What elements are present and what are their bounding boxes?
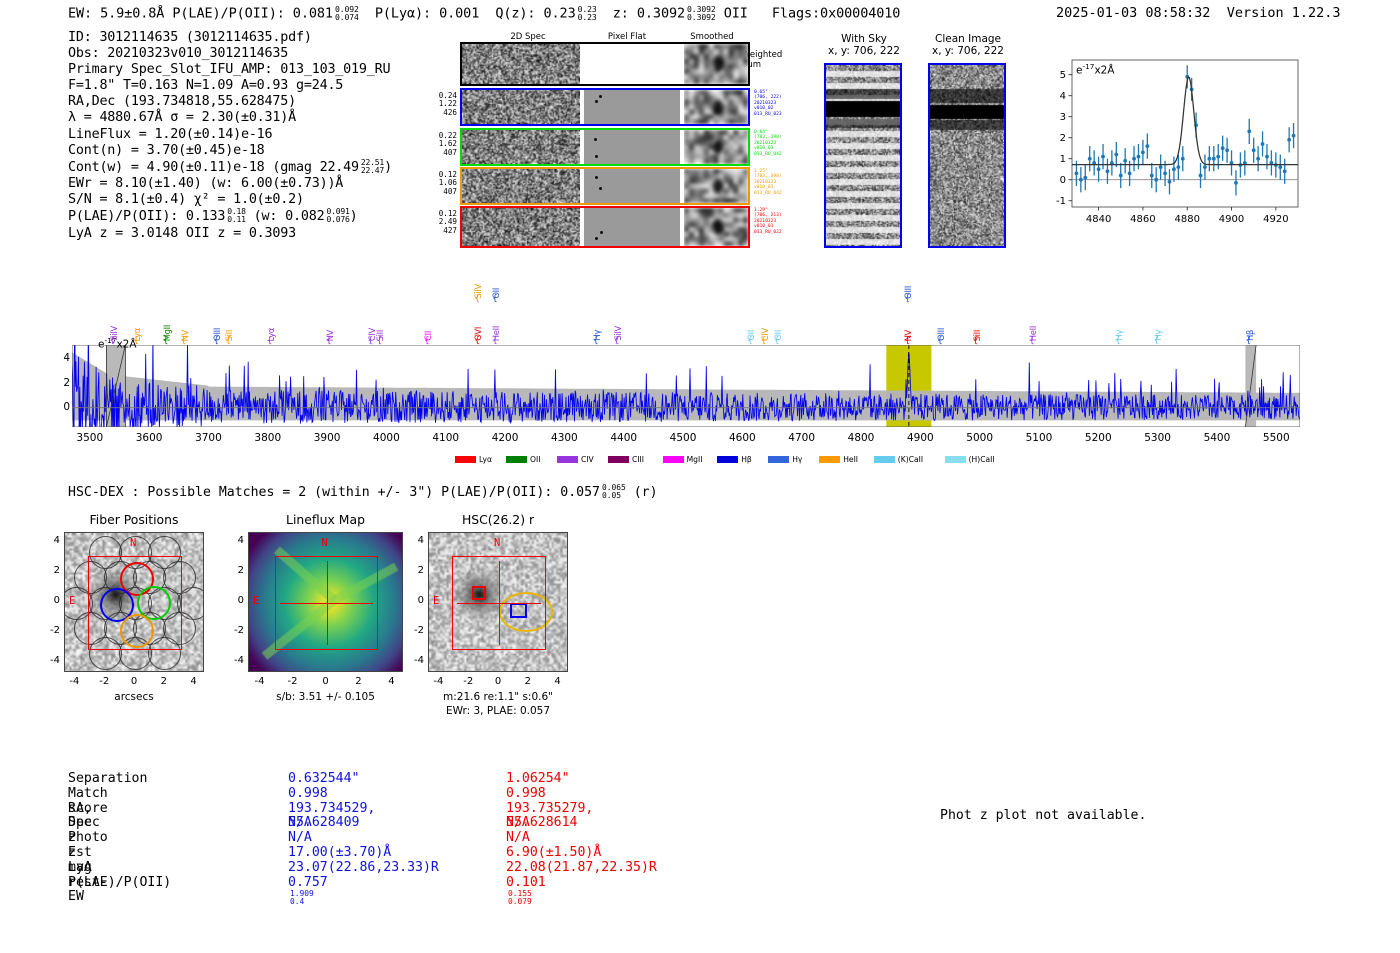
spec2d-cell-smoothed — [684, 169, 748, 203]
spectrum-line-bracket: { — [492, 294, 498, 304]
compass-east: E — [69, 595, 75, 607]
match-col1-value: 23.07(22.86,23.33)R — [288, 861, 439, 876]
full-spectrum-plot — [72, 345, 1300, 427]
legend-label: CIII — [632, 455, 644, 464]
svg-text:5: 5 — [1060, 70, 1066, 81]
match-col2-value: N/A — [506, 816, 530, 831]
header-ew: EW: 5.9±0.8Å — [68, 5, 164, 21]
param-ewr: EWr = 8.10(±1.40) (w: 6.00(±0.73))Å — [68, 176, 392, 192]
spectrum-xtick: 4800 — [848, 432, 875, 444]
spec2d-stat: 407 — [432, 188, 457, 196]
match-col2-value: 0.998 — [506, 787, 546, 802]
panel-ytick: 4 — [226, 535, 244, 546]
spec2d-montage: 2D Spec Pixel Flat Smoothed Weighted Sum… — [432, 32, 772, 252]
panel-ytick: -4 — [406, 655, 424, 666]
param-plae-w-lo: 0.076 — [326, 215, 349, 224]
spectrum-xtick: 3500 — [76, 432, 103, 444]
spectrum-xtick: 4300 — [551, 432, 578, 444]
match-row-label: Separation — [68, 772, 147, 787]
compass-east: E — [253, 595, 259, 607]
panel-ytick: 0 — [42, 595, 60, 606]
legend-swatch — [945, 456, 966, 463]
hsc-plae-lo: 0.05 — [602, 491, 621, 500]
panel-xtick: 4 — [388, 676, 394, 687]
spec2d-meta-line: 013_RU_022 — [754, 230, 782, 235]
compass-east: E — [433, 595, 439, 607]
param-primary-slot: Primary Spec_Slot_IFU_AMP: 013_103_019_R… — [68, 62, 392, 78]
panel-xtick: 2 — [355, 676, 361, 687]
cutout-coords: x, y: 706, 222 — [904, 45, 1032, 57]
spectrum-line-bracket: { — [424, 336, 430, 346]
cutout-image-clean — [928, 63, 1006, 248]
spec2d-meta-line: 013_RU_042 — [754, 191, 782, 196]
header-flags: Flags:0x00004010 — [772, 5, 900, 21]
spectrum-xtick: 5200 — [1085, 432, 1112, 444]
spec2d-row-meta: 0.65"(706, 222)20210323v010_02013_RU_023 — [754, 90, 782, 117]
col-header-smoothed: Smoothed — [672, 32, 752, 42]
panel-xtick: -2 — [463, 676, 473, 687]
match-col1-value: 17.00(±3.70)Å — [288, 846, 391, 861]
spectrum-line-bracket: { — [326, 336, 332, 346]
param-sn-chi2: S/N = 8.1(±0.4) χ² = 1.0(±0.2) — [68, 192, 392, 208]
legend-swatch — [819, 456, 840, 463]
spectrum-line-bracket: { — [474, 294, 480, 304]
spectrum-xtick: 4600 — [729, 432, 756, 444]
legend-swatch — [608, 456, 629, 463]
panel-caption: m:21.6 re:1.1" s:0.6" — [388, 691, 608, 703]
spectrum-xtick: 3800 — [254, 432, 281, 444]
spec2d-row — [460, 167, 750, 205]
legend-swatch — [663, 456, 684, 463]
spec2d-row — [460, 88, 750, 126]
spec2d-row-stats: 0.221.62407 — [432, 132, 457, 157]
col-header-2dspec: 2D Spec — [478, 32, 578, 42]
spectrum-line-bracket: { — [747, 336, 753, 346]
spectrum-line-bracket: { — [1029, 336, 1035, 346]
panel-xtick: 4 — [190, 676, 196, 687]
spec2d-row-meta: 1.29"(706, 213)20210323v010_01013_RU_022 — [754, 208, 782, 235]
spec2d-cell-raw — [462, 169, 580, 203]
panel-xtick: 2 — [525, 676, 531, 687]
svg-text:4: 4 — [1060, 91, 1066, 102]
timestamp-version: 2025-01-03 08:58:32 Version 1.22.3 — [1056, 5, 1341, 21]
spectrum-xtick: 5000 — [966, 432, 993, 444]
param-redshifts: LyA z = 3.0148 OII z = 0.3093 — [68, 226, 392, 242]
match-col1-value: 0.632544" — [288, 772, 359, 787]
legend-swatch — [717, 456, 738, 463]
legend-swatch — [506, 456, 527, 463]
legend-label: (K)CaII — [898, 455, 923, 464]
panel-image-hsc: NE — [428, 532, 568, 672]
spec2d-row-stats: 0.122.49427 — [432, 210, 457, 235]
header-plae-value: 0.081 — [293, 5, 333, 21]
param-plae-post: ) — [350, 209, 358, 224]
svg-text:4860: 4860 — [1130, 214, 1155, 225]
hsc-prefix: HSC-DEX : Possible Matches = 2 (within +… — [68, 485, 552, 500]
legend-label: MgII — [687, 455, 703, 464]
compass-north: N — [322, 537, 328, 549]
spectrum-xtick: 4400 — [610, 432, 637, 444]
header-plae-lo: 0.074 — [335, 12, 359, 22]
hsc-dex-summary: HSC-DEX : Possible Matches = 2 (within +… — [68, 484, 658, 500]
lineplot-units-label: e-17x2Å — [1076, 62, 1115, 77]
panel-image-fiber: NE — [64, 532, 204, 672]
spectrum-xtick: 5100 — [1026, 432, 1053, 444]
panel-ytick: 2 — [42, 565, 60, 576]
spectrum-xtick: 3900 — [314, 432, 341, 444]
spectrum-line-bracket: { — [225, 336, 231, 346]
spec2d-row-stats: 0.241.22426 — [432, 92, 457, 117]
match-col1-value: N/A — [288, 816, 312, 831]
panel-ytick: 0 — [406, 595, 424, 606]
header-z-value: 0.3092 — [637, 5, 685, 21]
spec2d-row-meta: 1.25"(703, 398)20210323v010_01013_RU_042 — [754, 169, 782, 196]
svg-text:4920: 4920 — [1263, 214, 1288, 225]
param-wavelength: λ = 4880.67Å σ = 2.30(±0.31)Å — [68, 110, 392, 126]
spec2d-cell-raw — [462, 130, 580, 164]
timestamp: 2025-01-03 08:58:32 — [1056, 5, 1210, 21]
spec2d-meta-line: 013_RU_042 — [754, 152, 782, 157]
spectrum-line-bracket: { — [181, 336, 187, 346]
spec2d-row — [460, 128, 750, 166]
spectrum-xtick: 4200 — [492, 432, 519, 444]
aperture-box — [88, 556, 182, 650]
panel-xtick: -2 — [99, 676, 109, 687]
panel-ytick: -4 — [226, 655, 244, 666]
spectrum-line-bracket: { — [614, 336, 620, 346]
spectrum-xtick: 4000 — [373, 432, 400, 444]
legend-label: Hγ — [792, 455, 802, 464]
spec2d-cell-pixelflat — [584, 44, 680, 84]
svg-text:3: 3 — [1060, 112, 1066, 123]
spec2d-cell-pixelflat — [584, 208, 680, 246]
svg-text:-1: -1 — [1056, 196, 1066, 207]
compass-north: N — [494, 537, 500, 549]
spectrum-line-bracket: { — [492, 336, 498, 346]
spectrum-line-bracket: { — [1246, 336, 1252, 346]
spectrum-line-bracket: { — [267, 336, 273, 346]
spec2d-row-meta: 0.84"(703, 398)20210323v010_03013_RU_042 — [754, 130, 782, 157]
spectrum-line-bracket: { — [593, 336, 599, 346]
panel-ytick: 0 — [226, 595, 244, 606]
header-plya: P(Lyα): 0.001 — [375, 5, 479, 21]
legend-swatch — [768, 456, 789, 463]
legend-label: CIV — [581, 455, 594, 464]
spectrum-line-bracket: { — [213, 336, 219, 346]
compass-north: N — [130, 537, 136, 549]
spec2d-stat: 426 — [432, 109, 457, 117]
spectrum-xtick: 3600 — [136, 432, 163, 444]
spectrum-xtick: 4700 — [788, 432, 815, 444]
spectrum-line-bracket: { — [376, 336, 382, 346]
spectrum-xtick: 4500 — [670, 432, 697, 444]
svg-text:1: 1 — [1060, 154, 1066, 165]
panel-xtick: -4 — [255, 676, 265, 687]
param-plae: P(LAE)/P(OII): 0.1330.180.11 (w: 0.0820.… — [68, 208, 392, 225]
panel-xlabel: arcsecs — [34, 691, 234, 703]
panel-title: HSC(26.2) r — [388, 512, 608, 527]
match-col1-value: N/A — [288, 831, 312, 846]
spectrum-line-bracket: { — [133, 336, 139, 346]
spec2d-cell-raw — [462, 208, 580, 246]
param-plae-lo: 0.11 — [227, 215, 246, 224]
col-header-pixelflat: Pixel Flat — [582, 32, 672, 42]
param-continuum-wide: Cont(w) = 4.90(±0.11)e-18 (gmag 22.4922.… — [68, 159, 392, 176]
panel-ytick: 2 — [406, 565, 424, 576]
match-row-label: mag — [68, 861, 92, 876]
header-qz-lo: 0.23 — [578, 12, 597, 22]
panel-xtick: 0 — [322, 676, 328, 687]
spec2d-row — [460, 42, 750, 86]
param-id: ID: 3012114635 (3012114635.pdf) — [68, 30, 392, 46]
version-label: Version 1.22.3 — [1227, 5, 1341, 21]
panel-ytick: -2 — [226, 625, 244, 636]
spec2d-cell-smoothed — [684, 130, 748, 164]
svg-text:2: 2 — [1060, 133, 1066, 144]
spectrum-xtick: 5300 — [1144, 432, 1171, 444]
spectrum-ytick: 2 — [56, 377, 70, 389]
spec2d-cell-raw — [462, 44, 580, 84]
legend-label: (H)CaII — [969, 455, 995, 464]
panel-ytick: 4 — [42, 535, 60, 546]
spectrum-xtick: 4100 — [432, 432, 459, 444]
spectrum-line-bracket: { — [110, 336, 116, 346]
crosshair-vertical — [499, 561, 500, 645]
legend-swatch — [874, 456, 895, 463]
legend-swatch — [455, 456, 476, 463]
param-obs: Obs: 20210323v010_3012114635 — [68, 46, 392, 62]
param-seeing: F=1.8" T=0.163 N=1.09 A=0.93 g=24.5 — [68, 78, 392, 94]
panel-image-flux: NE — [248, 532, 403, 672]
spectrum-line-bracket: { — [1154, 336, 1160, 346]
panel-xtick: 0 — [131, 676, 137, 687]
spectrum-ytick: 0 — [56, 401, 70, 413]
header-z-type: OII — [724, 5, 748, 21]
panel-ytick: -4 — [42, 655, 60, 666]
panel-ytick: -2 — [406, 625, 424, 636]
spec2d-cell-pixelflat — [584, 90, 680, 124]
spectrum-line-bracket: { — [1115, 336, 1121, 346]
spectrum-line-bracket: { — [904, 336, 910, 346]
match-col1-value: 0.7571.9090.4 — [288, 876, 328, 908]
spectrum-line-bracket: { — [904, 294, 910, 304]
param-cont-w-lo: 22.47 — [361, 166, 384, 175]
spec2d-cell-pixelflat — [584, 130, 680, 164]
hsc-plae-value: 0.057 — [560, 485, 600, 500]
param-radec: RA,Dec (193.734818,55.628475) — [68, 94, 392, 110]
spectrum-xtick: 5500 — [1263, 432, 1290, 444]
spectrum-line-bracket: { — [761, 336, 767, 346]
match-col2-value: 0.1010.1550.079 — [506, 876, 546, 908]
legend-label: Hβ — [741, 455, 752, 464]
spectrum-ytick: 4 — [56, 352, 70, 364]
header-z-lo: 0.3092 — [687, 12, 716, 22]
spec2d-row — [460, 206, 750, 248]
spec2d-cell-raw — [462, 90, 580, 124]
panel-xtick: 4 — [554, 676, 560, 687]
param-plae-pre: P(LAE)/P(OII): 0.133 — [68, 209, 225, 224]
spec2d-meta-line: 013_RU_023 — [754, 112, 782, 117]
spec2d-cell-pixelflat — [584, 169, 680, 203]
spec2d-cell-smoothed — [684, 208, 748, 246]
legend-label: HeII — [843, 455, 858, 464]
header-z-label: z: — [613, 5, 629, 21]
svg-text:0: 0 — [1060, 175, 1066, 186]
svg-text:4900: 4900 — [1219, 214, 1244, 225]
legend-swatch — [557, 456, 578, 463]
spectrum-line-bracket: { — [937, 336, 943, 346]
panel-xtick: 0 — [495, 676, 501, 687]
panel-xtick: -4 — [69, 676, 79, 687]
spectrum-line-bracket: { — [973, 336, 979, 346]
spectrum-line-bracket: { — [163, 336, 169, 346]
svg-text:4880: 4880 — [1174, 214, 1199, 225]
spec2d-cell-smoothed — [684, 90, 748, 124]
spectrum-line-bracket: { — [368, 336, 374, 346]
panel-xtick: -4 — [433, 676, 443, 687]
parameter-block: ID: 3012114635 (3012114635.pdf) Obs: 202… — [68, 30, 392, 242]
param-cont-w-post: ) — [384, 160, 392, 175]
spec2d-stat: 427 — [432, 227, 457, 235]
spectrum-xtick: 5400 — [1204, 432, 1231, 444]
spectrum-line-bracket: { — [474, 336, 480, 346]
match-col1-value: 0.998 — [288, 787, 328, 802]
panel-xtick: 2 — [161, 676, 167, 687]
match-col2-value: 1.06254" — [506, 772, 570, 787]
panel-ytick: 4 — [406, 535, 424, 546]
cutout-title: Clean Imagex, y: 706, 222 — [904, 33, 1032, 57]
spec2d-row-stats: 0.121.06407 — [432, 171, 457, 196]
panel-caption: EWr: 3, PLAE: 0.057 — [388, 705, 608, 717]
svg-text:4840: 4840 — [1086, 214, 1111, 225]
panel-ytick: 2 — [226, 565, 244, 576]
match-col2-value: 22.08(21.87,22.35)R — [506, 861, 657, 876]
cutout-name: Clean Image — [904, 33, 1032, 45]
param-lineflux: LineFlux = 1.20(±0.14)e-16 — [68, 127, 392, 143]
line-profile-plot: 48404860488049004920-1012345e-17x2Å — [1032, 50, 1304, 235]
legend-label: OII — [530, 455, 540, 464]
header-plae-label: P(LAE)/P(OII): — [172, 5, 284, 21]
crosshair-vertical — [327, 561, 328, 645]
legend-label: Lyα — [479, 455, 492, 464]
match-col2-value: 6.90(±1.50)Å — [506, 846, 601, 861]
param-cont-w-text: Cont(w) = 4.90(±0.11)e-18 (gmag 22.49 — [68, 160, 359, 175]
param-continuum-narrow: Cont(n) = 3.70(±0.45)e-18 — [68, 143, 392, 159]
header-qz-value: 0.23 — [543, 5, 575, 21]
cutout-image-sky — [824, 63, 902, 248]
spec2d-stat: 407 — [432, 149, 457, 157]
spectrum-xtick: 3700 — [195, 432, 222, 444]
spectrum-xtick: 4900 — [907, 432, 934, 444]
param-plae-mid: (w: 0.082 — [254, 209, 325, 224]
spec2d-cell-smoothed — [684, 44, 748, 84]
hsc-band: (r) — [634, 485, 658, 500]
spectrum-line-bracket: { — [774, 336, 780, 346]
panel-xtick: -2 — [288, 676, 298, 687]
header-qz-label: Q(z): — [495, 5, 535, 21]
match-row-label: P(LAE)/P(OII) — [68, 876, 171, 891]
panel-ytick: -2 — [42, 625, 60, 636]
match-col2-value: N/A — [506, 831, 530, 846]
photz-note: Phot z plot not available. — [940, 808, 1146, 823]
header-summary: EW: 5.9±0.8Å P(LAE)/P(OII): 0.0810.0920.… — [68, 5, 900, 22]
